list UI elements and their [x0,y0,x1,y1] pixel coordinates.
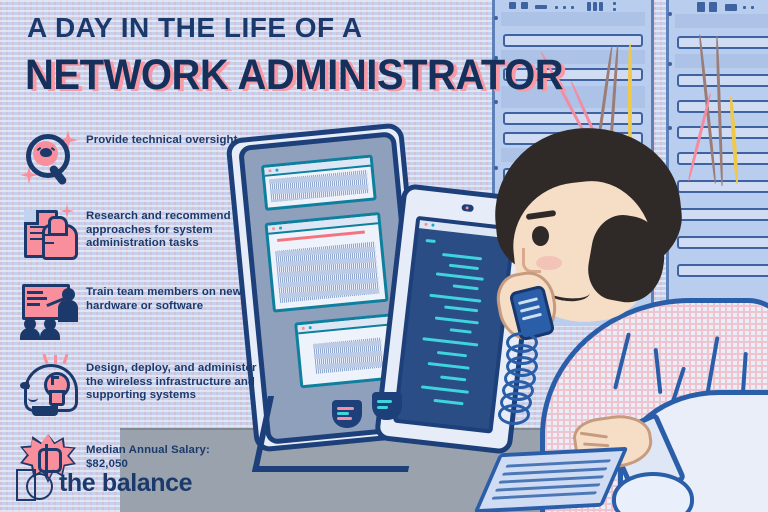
salary-label: Median Annual Salary: [86,444,268,458]
screen-window-1 [261,154,377,211]
whiteboard-training-icon [18,278,80,340]
list-item-label: Train team members on new hardware or so… [86,278,268,313]
balance-logomark-icon [16,466,50,500]
brand-name: the balance [59,469,192,498]
brand-logo[interactable]: the balance [16,466,192,500]
list-item-label: Provide technical oversight [86,126,268,148]
phone-cord [506,332,540,428]
network-administrator-illustration [470,120,768,512]
page-title: NETWORK ADMINISTRATOR [25,52,563,98]
magnifier-bug-icon [18,126,80,188]
list-item-label: Research and recommend approaches for sy… [86,202,268,251]
page-kicker: A DAY IN THE LIFE OF A [27,12,363,44]
list-item: Design, deploy, and administer the wirel… [18,354,268,416]
salary-text: Median Annual Salary: $82,050 [86,430,268,471]
list-item: Research and recommend approaches for sy… [18,202,268,264]
eye [532,226,549,246]
monitor-badge-1 [332,400,362,428]
list-item: Provide technical oversight [18,126,268,188]
infographic-poster: A DAY IN THE LIFE OF A NETWORK ADMINISTR… [0,0,768,512]
list-item: Train team members on new hardware or so… [18,278,268,340]
screen-window-2 [264,212,388,313]
monitor-badge-2 [372,392,402,420]
list-item-label: Design, deploy, and administer the wirel… [86,354,268,403]
head-lightbulb-icon [18,354,80,416]
document-thumbsup-icon [18,202,80,264]
responsibilities-list: Provide technical oversight Research and… [18,126,268,506]
nose [522,248,541,273]
